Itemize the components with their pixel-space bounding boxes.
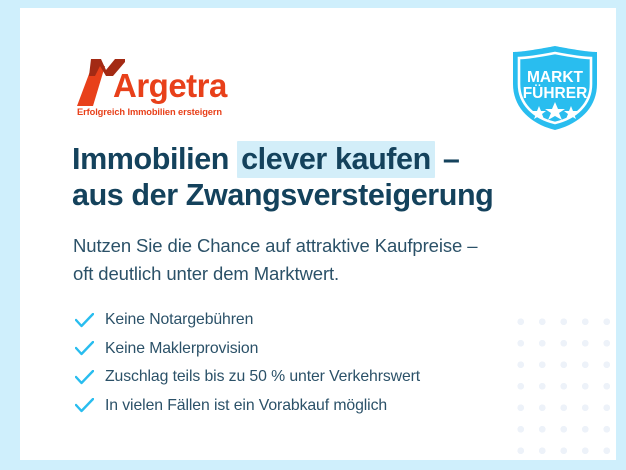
subheadline: Nutzen Sie die Chance auf attraktive Kau… — [73, 232, 593, 288]
badge-line1-text: MARKT — [527, 69, 583, 86]
list-item: Keine Notargebühren — [75, 306, 555, 335]
list-item: Zuschlag teils bis zu 50 % unter Verkehr… — [75, 363, 555, 392]
list-item: In vielen Fällen ist ein Vorabkauf mögli… — [75, 392, 555, 421]
subheadline-line2: oft deutlich unter dem Marktwert. — [73, 263, 339, 284]
headline-part1: Immobilien — [72, 142, 237, 176]
subheadline-line1: Nutzen Sie die Chance auf attraktive Kau… — [73, 235, 477, 256]
headline-line2: aus der Zwangsversteigerung — [72, 178, 493, 212]
check-icon — [75, 367, 105, 387]
argetra-logo[interactable]: Argetra Erfolgreich Immobilien ersteiger… — [75, 50, 275, 122]
argetra-wordmark: Argetra — [113, 67, 227, 105]
check-icon — [75, 339, 105, 359]
marktfuehrer-badge: MARKT FÜHRER — [509, 44, 601, 132]
list-item-label: Zuschlag teils bis zu 50 % unter Verkehr… — [105, 368, 420, 386]
list-item: Keine Maklerprovision — [75, 335, 555, 364]
check-icon — [75, 396, 105, 416]
argetra-tagline: Erfolgreich Immobilien ersteigern — [77, 107, 222, 117]
list-item-label: Keine Notargebühren — [105, 311, 253, 329]
badge-line2-text: FÜHRER — [523, 85, 588, 102]
list-item-label: Keine Maklerprovision — [105, 340, 258, 358]
content-panel: Argetra Erfolgreich Immobilien ersteiger… — [20, 8, 616, 460]
headline: Immobilien clever kaufen – aus der Zwang… — [72, 141, 592, 213]
headline-part2: – — [435, 142, 460, 176]
promo-banner: Argetra Erfolgreich Immobilien ersteiger… — [0, 0, 626, 470]
list-item-label: In vielen Fällen ist ein Vorabkauf mögli… — [105, 397, 387, 415]
benefit-list: Keine Notargebühren Keine Maklerprovisio… — [75, 306, 555, 420]
check-icon — [75, 310, 105, 330]
headline-highlight: clever kaufen — [237, 141, 435, 178]
